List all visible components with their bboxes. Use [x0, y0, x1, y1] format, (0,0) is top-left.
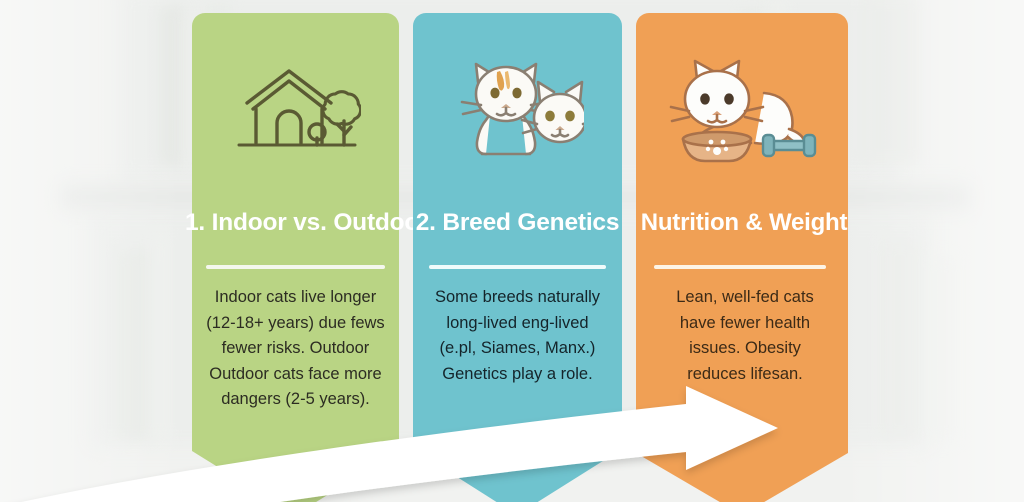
description-line: (e.pl, Siames, Manx.) [419, 336, 616, 362]
description-line: fewer risks. Outdoor [198, 336, 393, 362]
card-divider [206, 265, 385, 269]
card-description: Some breeds naturally long-lived eng-liv… [419, 285, 616, 387]
description-line: Outdoor cats face more [198, 362, 393, 388]
description-line: Lean, well-fed cats [648, 285, 842, 311]
description-line: Genetics play a role. [419, 362, 616, 388]
card-bottom-taper [192, 433, 399, 502]
card-divider [429, 265, 606, 269]
description-line: issues. Obesity [648, 336, 842, 362]
cat-bowl-dumbbell-icon [636, 51, 848, 171]
card-description: Lean, well-fed cats have fewer health is… [648, 285, 842, 387]
description-line: reduces lifesan. [648, 362, 842, 388]
infographic-canvas: 1. Indoor vs. Outdoor Indoor cats live l… [0, 0, 1024, 502]
two-cats-icon [413, 51, 622, 171]
house-tree-icon [192, 51, 399, 171]
description-line: Indoor cats live longer [198, 285, 393, 311]
card-title: 1. Indoor vs. Outdoor [185, 206, 392, 240]
card-divider [654, 265, 826, 269]
description-line: (12-18+ years) due fews [198, 311, 393, 337]
description-line: long-lived eng-lived [419, 311, 616, 337]
card-title: Nutrition & Weight [638, 206, 850, 240]
card-description: Indoor cats live longer (12-18+ years) d… [198, 285, 393, 413]
description-line: Some breeds naturally [419, 285, 616, 311]
card-bottom-taper [413, 433, 622, 502]
description-line: dangers (2-5 years). [198, 387, 393, 413]
card-bottom-taper [636, 433, 848, 502]
card-title: 2. Breed Genetics [413, 206, 622, 240]
description-line: have fewer health [648, 311, 842, 337]
